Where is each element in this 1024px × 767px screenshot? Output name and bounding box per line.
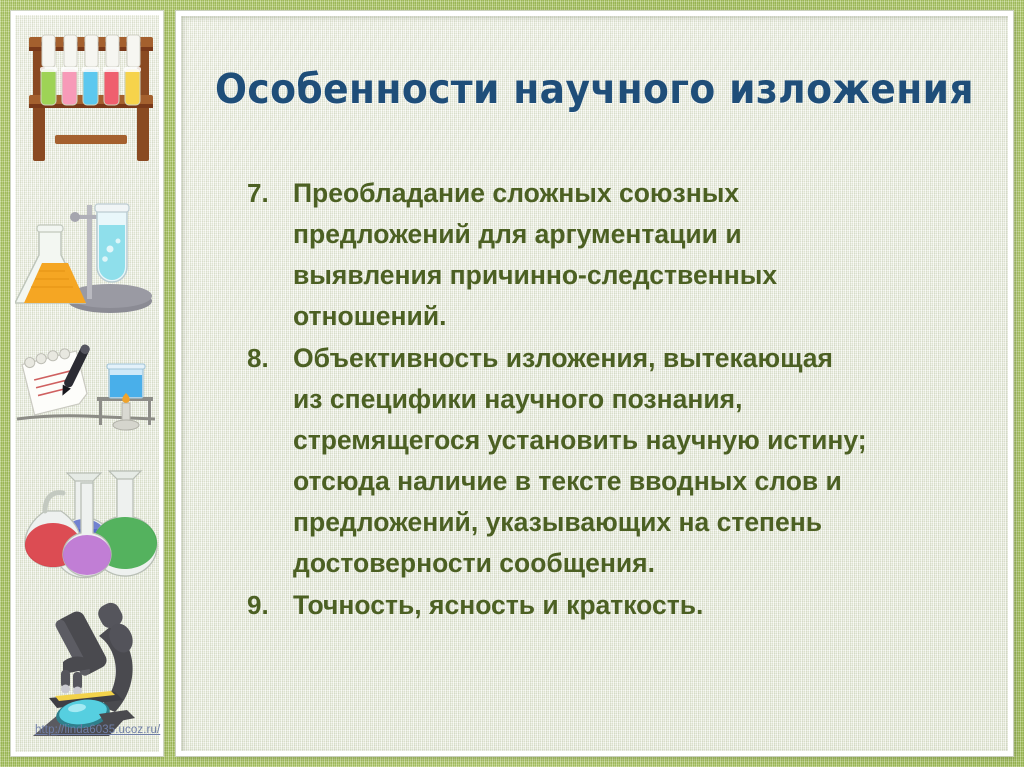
- list-item-line: предложений, указывающих на степень: [293, 502, 982, 543]
- list-item: 8. Объективность изложения, вытекающая и…: [241, 338, 982, 584]
- flask-and-stand-svg: [15, 191, 167, 331]
- slide-canvas: http://linda6035.ucoz.ru/ Особенности на…: [0, 0, 1024, 767]
- main-content-panel: Особенности научного изложения 7. Преобл…: [176, 11, 1013, 756]
- round-bottom-flasks-icon: [15, 467, 167, 597]
- list-item-line: выявления причинно-следственных: [293, 255, 982, 296]
- list-item-line: стремящегося установить научную истину;: [293, 420, 982, 461]
- notepad-and-burner-icon: [15, 341, 167, 459]
- microscope-svg: [15, 600, 167, 760]
- list-item-number: 9.: [241, 585, 293, 626]
- flask-and-stand-icon: [15, 191, 167, 331]
- microscope-icon: [15, 600, 167, 760]
- list-item-text: Преобладание сложных союзных предложений…: [293, 173, 982, 337]
- list-item-line: отсюда наличие в тексте вводных слов и: [293, 461, 982, 502]
- numbered-feature-list: 7. Преобладание сложных союзных предложе…: [201, 173, 982, 627]
- list-item: 7. Преобладание сложных союзных предложе…: [241, 173, 982, 337]
- test-tube-rack-icon: [15, 21, 167, 179]
- notepad-and-burner-svg: [15, 341, 167, 459]
- list-item-number: 8.: [241, 338, 293, 379]
- list-item-line: Преобладание сложных союзных: [293, 173, 982, 214]
- list-item-line: отношений.: [293, 296, 982, 337]
- list-item-text: Объективность изложения, вытекающая из с…: [293, 338, 982, 584]
- list-item-line: Точность, ясность и краткость.: [293, 585, 982, 626]
- list-item-line: предложений для аргументации и: [293, 214, 982, 255]
- list-item-line: Объективность изложения, вытекающая: [293, 338, 982, 379]
- list-item-line: из специфики научного познания,: [293, 379, 982, 420]
- round-bottom-flasks-svg: [15, 467, 167, 597]
- list-item: 9. Точность, ясность и краткость.: [241, 585, 982, 626]
- sidebar-illustration-column: http://linda6035.ucoz.ru/: [11, 11, 163, 756]
- page-title: Особенности научного изложения: [173, 65, 1017, 113]
- test-tube-rack-svg: [15, 21, 167, 179]
- list-item-text: Точность, ясность и краткость.: [293, 585, 982, 626]
- main-content-surface: Особенности научного изложения 7. Преобл…: [181, 16, 1008, 751]
- source-watermark-link[interactable]: http://linda6035.ucoz.ru/: [35, 724, 160, 736]
- list-item-line: достоверности сообщения.: [293, 543, 982, 584]
- list-item-number: 7.: [241, 173, 293, 214]
